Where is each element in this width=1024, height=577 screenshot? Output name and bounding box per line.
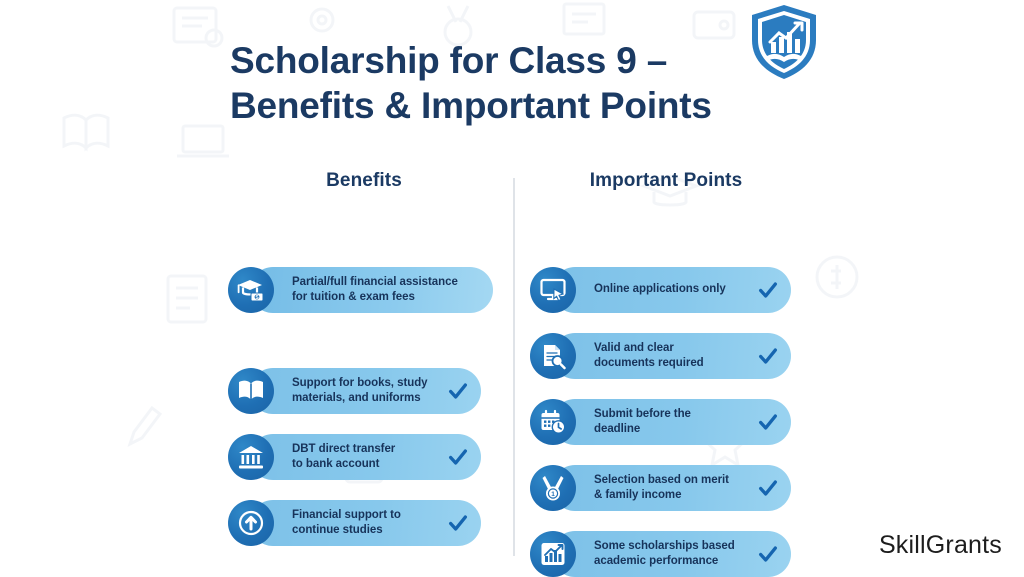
pill-text: Some scholarships based academic perform… xyxy=(594,539,753,570)
column-heading-benefits: Benefits xyxy=(228,170,500,194)
pill-text: Financial support to continue studies xyxy=(292,508,443,539)
point-pill-2[interactable]: Valid and clear documents required xyxy=(552,333,791,379)
pill-line-1: Financial support to xyxy=(292,509,401,521)
monitor-cursor-icon xyxy=(530,267,576,313)
pill-line-2: & family income xyxy=(594,489,681,501)
pill-line-2: for tuition & exam fees xyxy=(292,291,415,303)
skillgrants-shield-logo xyxy=(745,2,823,82)
pill-line-1: DBT direct transfer xyxy=(292,443,395,455)
list-item[interactable]: Partial/full financial assistance for tu… xyxy=(228,267,493,313)
pill-line-1: Support for books, study xyxy=(292,377,428,389)
point-pill-5[interactable]: Some scholarships based academic perform… xyxy=(552,531,791,577)
pill-line-1: Partial/full financial assistance xyxy=(292,276,458,288)
pill-line-1: Some scholarships based xyxy=(594,540,735,552)
graduation-cap-money-icon: S xyxy=(228,267,274,313)
watermark-notebook-icon xyxy=(170,4,228,50)
pill-text: Online applications only xyxy=(594,282,753,297)
checkmark-icon xyxy=(447,512,469,534)
infographic-canvas: Scholarship for Class 9 – Benefits & Imp… xyxy=(0,0,1024,576)
list-item[interactable]: Valid and clear documents required xyxy=(530,333,782,379)
list-item[interactable]: Some scholarships based academic perform… xyxy=(530,531,782,577)
checkmark-icon xyxy=(757,411,779,433)
page-title: Scholarship for Class 9 – Benefits & Imp… xyxy=(230,38,790,128)
calendar-clock-icon xyxy=(530,399,576,445)
pill-line-2: materials, and uniforms xyxy=(292,392,421,404)
point-pill-3[interactable]: Submit before the deadline xyxy=(552,399,791,445)
column-benefits: Benefits Partial/full financial assistan… xyxy=(228,170,500,209)
pill-line-1: Submit before the xyxy=(594,408,691,420)
pill-text: DBT direct transfer to bank account xyxy=(292,442,443,473)
bank-building-icon xyxy=(228,434,274,480)
arrow-up-circle-icon xyxy=(228,500,274,546)
point-pill-1[interactable]: Online applications only xyxy=(552,267,791,313)
columns-container: Benefits Partial/full financial assistan… xyxy=(0,170,1024,560)
pill-line-2: to bank account xyxy=(292,458,379,470)
checkmark-icon xyxy=(447,446,469,468)
pill-line-2: continue studies xyxy=(292,524,383,536)
checkmark-icon xyxy=(757,477,779,499)
medal-award-icon: 1 xyxy=(530,465,576,511)
column-important-points: Important Points Online applications onl… xyxy=(530,170,802,209)
title-line-1: Scholarship for Class 9 – xyxy=(230,38,790,83)
checkmark-icon xyxy=(757,543,779,565)
pill-text: Support for books, study materials, and … xyxy=(292,376,443,407)
list-item[interactable]: Selection based on merit & family income xyxy=(530,465,782,511)
benefit-pill-3[interactable]: DBT direct transfer to bank account xyxy=(250,434,481,480)
pill-line-2: documents required xyxy=(594,357,704,369)
column-divider xyxy=(513,178,515,556)
pill-line-2: deadline xyxy=(594,423,640,435)
open-book-icon xyxy=(228,368,274,414)
pill-line-1: Online applications only xyxy=(594,283,726,295)
pill-line-2: academic performance xyxy=(594,555,718,567)
watermark-laptop-icon xyxy=(175,120,231,164)
point-pill-4[interactable]: Selection based on merit & family income xyxy=(552,465,791,511)
column-heading-important-points: Important Points xyxy=(530,170,802,194)
list-item[interactable]: Support for books, study materials, and … xyxy=(228,368,480,414)
title-line-2: Benefits & Important Points xyxy=(230,83,790,128)
benefit-pill-4[interactable]: Financial support to continue studies xyxy=(250,500,481,546)
list-item[interactable]: Financial support to continue studies xyxy=(228,500,480,546)
watermark-book-icon xyxy=(60,110,112,154)
pill-text: Partial/full financial assistance for tu… xyxy=(292,275,485,306)
svg-text:1: 1 xyxy=(551,491,555,498)
checkmark-icon xyxy=(757,345,779,367)
pill-text: Valid and clear documents required xyxy=(594,341,753,372)
list-item[interactable]: DBT direct transfer to bank account xyxy=(228,434,480,480)
checkmark-icon xyxy=(757,279,779,301)
benefit-pill-2[interactable]: Support for books, study materials, and … xyxy=(250,368,481,414)
benefit-pill-1[interactable]: Partial/full financial assistance for tu… xyxy=(250,267,493,313)
pill-line-1: Selection based on merit xyxy=(594,474,729,486)
document-magnifier-icon xyxy=(530,333,576,379)
pill-text: Submit before the deadline xyxy=(594,407,753,438)
list-item[interactable]: Online applications only xyxy=(530,267,782,313)
checkmark-icon xyxy=(447,380,469,402)
list-item[interactable]: Submit before the deadline xyxy=(530,399,782,445)
brand-watermark: SkillGrants xyxy=(879,531,1002,560)
bar-chart-growth-icon xyxy=(530,531,576,577)
pill-text: Selection based on merit & family income xyxy=(594,473,753,504)
pill-line-1: Valid and clear xyxy=(594,342,674,354)
